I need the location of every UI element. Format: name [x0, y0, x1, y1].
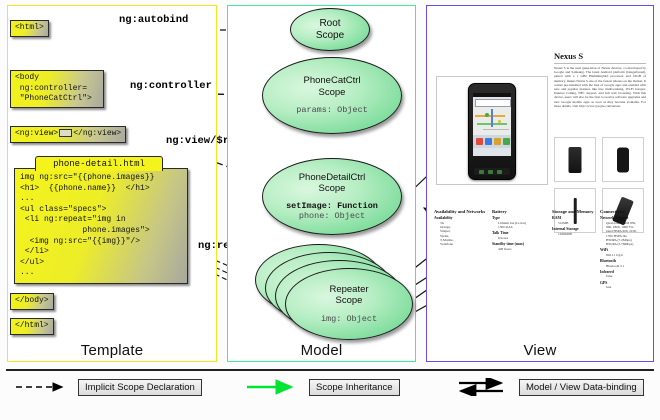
- phone-map-area: [473, 107, 511, 137]
- scope-phonedetailctrl-prop-setimage: setImage: Function: [286, 201, 378, 212]
- scope-phonedetailctrl-prop-phone: phone: Object: [299, 211, 365, 222]
- template-box-body-close[interactable]: </body>: [10, 293, 54, 310]
- phone-search-box: [475, 99, 511, 107]
- app-icon-3: [494, 138, 501, 145]
- spec-value: 1500 mAh: [492, 225, 546, 229]
- soft-key-back-icon: [479, 170, 484, 174]
- phone-app-dock: [473, 135, 511, 148]
- scope-phonecatctrl-prop-params: params: Object: [296, 105, 367, 116]
- scope-root-title-2: Scope: [316, 30, 344, 42]
- phone-soft-keys: [474, 168, 510, 175]
- scope-phonecatctrl[interactable]: PhoneCatCtrl Scope params: Object: [262, 57, 402, 134]
- map-road-3: [491, 109, 493, 127]
- spec-value: 802.11 b/g/n: [600, 253, 650, 257]
- soft-key-menu-icon: [497, 170, 502, 174]
- spec-value: Bluetooth 2.1: [600, 264, 650, 268]
- app-icon-1: [476, 138, 483, 145]
- spec-heading-availability: Availability and Networks: [434, 209, 488, 214]
- spec-column-connectivity: Connectivity Network Support Quad-band G…: [600, 209, 650, 289]
- legend-item-implicit-scope-declaration: Implicit Scope Declaration: [14, 378, 202, 396]
- legend: Implicit Scope Declaration Scope Inherit…: [0, 378, 660, 404]
- spec-heading-storage: Storage and Memory: [552, 209, 604, 214]
- product-title: Nexus S: [554, 51, 583, 61]
- view-column-label: View: [427, 342, 653, 359]
- hero-image-frame[interactable]: [436, 76, 548, 185]
- spec-value: Vodafone: [434, 242, 488, 246]
- model-column-label: Model: [228, 342, 415, 359]
- product-description: Nexus S is the next generation of Nexus …: [554, 66, 646, 108]
- map-marker-2: [498, 120, 501, 123]
- map-marker-1: [485, 113, 489, 117]
- spec-value: true: [600, 285, 650, 289]
- thumbnail-front-image: [569, 147, 582, 173]
- map-road-1: [475, 115, 505, 117]
- spec-value: HSUPA (5.76Mbps): [600, 242, 650, 246]
- diagram-canvas: Template <html> <body ng:controller= "Ph…: [0, 0, 660, 420]
- spec-value: 16384MB: [552, 232, 604, 236]
- template-box-html-open[interactable]: <html>: [10, 20, 49, 37]
- note-title: phone-detail.html: [35, 156, 163, 171]
- scope-phonecatctrl-title-1: PhoneCatCtrl: [303, 75, 360, 87]
- spec-column-availability: Availability and Networks Availability 3…: [434, 209, 488, 246]
- view-page-content: Nexus S Nexus S is the next generation o…: [432, 11, 648, 343]
- spec-value: 512MB: [552, 221, 604, 225]
- legend-divider: [6, 369, 654, 371]
- scope-phonecatctrl-title-2: Scope: [319, 87, 346, 99]
- scope-repeater-title-1: Repeater: [329, 284, 368, 296]
- spec-column-battery: Battery Type Lithium Ion (Li-Ion) 1500 m…: [492, 209, 546, 251]
- spec-column-storage: Storage and Memory RAM 512MB Internal St…: [552, 209, 604, 236]
- template-box-ngview[interactable]: <ng:view></ng:view>: [10, 126, 126, 143]
- phone-screen: [473, 93, 511, 156]
- scope-phonedetailctrl-title-2: Scope: [319, 183, 346, 195]
- template-note-phone-detail[interactable]: phone-detail.html img ng:src="{{phone.im…: [14, 168, 188, 284]
- template-column-label: Template: [8, 342, 216, 359]
- legend-label-implicit-scope-declaration: Implicit Scope Declaration: [78, 379, 202, 396]
- dashed-arrow-icon: [14, 378, 74, 396]
- spec-value: 6 hours: [492, 236, 546, 240]
- legend-label-scope-inheritance: Scope Inheritance: [309, 379, 400, 396]
- scope-root[interactable]: Root Scope: [290, 8, 370, 51]
- template-box-body-open[interactable]: <body ng:controller= "PhoneCatCtrl">: [10, 70, 104, 108]
- app-icon-4: [503, 138, 510, 145]
- phone-status-bar: [473, 93, 511, 97]
- ngview-open-tag: <ng:view>: [15, 129, 58, 138]
- legend-item-model-view-data-binding: Model / View Data-binding: [455, 378, 644, 396]
- scope-repeater[interactable]: Repeater Scope img: Object: [285, 268, 413, 340]
- label-ng-controller: ng:controller: [130, 80, 212, 92]
- green-arrow-icon: [245, 378, 305, 396]
- scope-repeater-prop-img: img: Object: [321, 314, 377, 325]
- scope-phonedetailctrl[interactable]: PhoneDetailCtrl Scope setImage: Function…: [262, 158, 402, 235]
- scope-repeater-title-2: Scope: [336, 295, 363, 307]
- template-box-html-close[interactable]: </html>: [10, 318, 54, 335]
- scope-root-title-1: Root: [319, 18, 340, 30]
- ngview-placeholder-icon: [59, 129, 72, 137]
- title-divider: [554, 63, 646, 64]
- spec-heading-battery: Battery: [492, 209, 546, 214]
- thumbnail-back-image: [617, 147, 629, 172]
- spec-value: false: [600, 274, 650, 278]
- legend-label-model-view-data-binding: Model / View Data-binding: [519, 379, 644, 396]
- ngview-close-tag: </ng:view>: [73, 129, 121, 138]
- legend-item-scope-inheritance: Scope Inheritance: [245, 378, 400, 396]
- phone-hero-image: [468, 83, 516, 180]
- spec-heading-connectivity: Connectivity: [600, 209, 650, 214]
- spec-value: 428 hours: [492, 247, 546, 251]
- app-icon-2: [485, 138, 492, 145]
- note-code: img ng:src="{{phone.images}} <h1> {{phon…: [15, 169, 187, 283]
- label-ng-autobind: ng:autobind: [119, 14, 188, 26]
- soft-key-home-icon: [488, 170, 493, 174]
- double-arrow-icon: [455, 378, 515, 396]
- thumbnail-front[interactable]: [554, 137, 596, 182]
- scope-phonedetailctrl-title-1: PhoneDetailCtrl: [299, 172, 366, 184]
- thumbnail-back[interactable]: [602, 137, 644, 182]
- map-road-4: [483, 129, 509, 130]
